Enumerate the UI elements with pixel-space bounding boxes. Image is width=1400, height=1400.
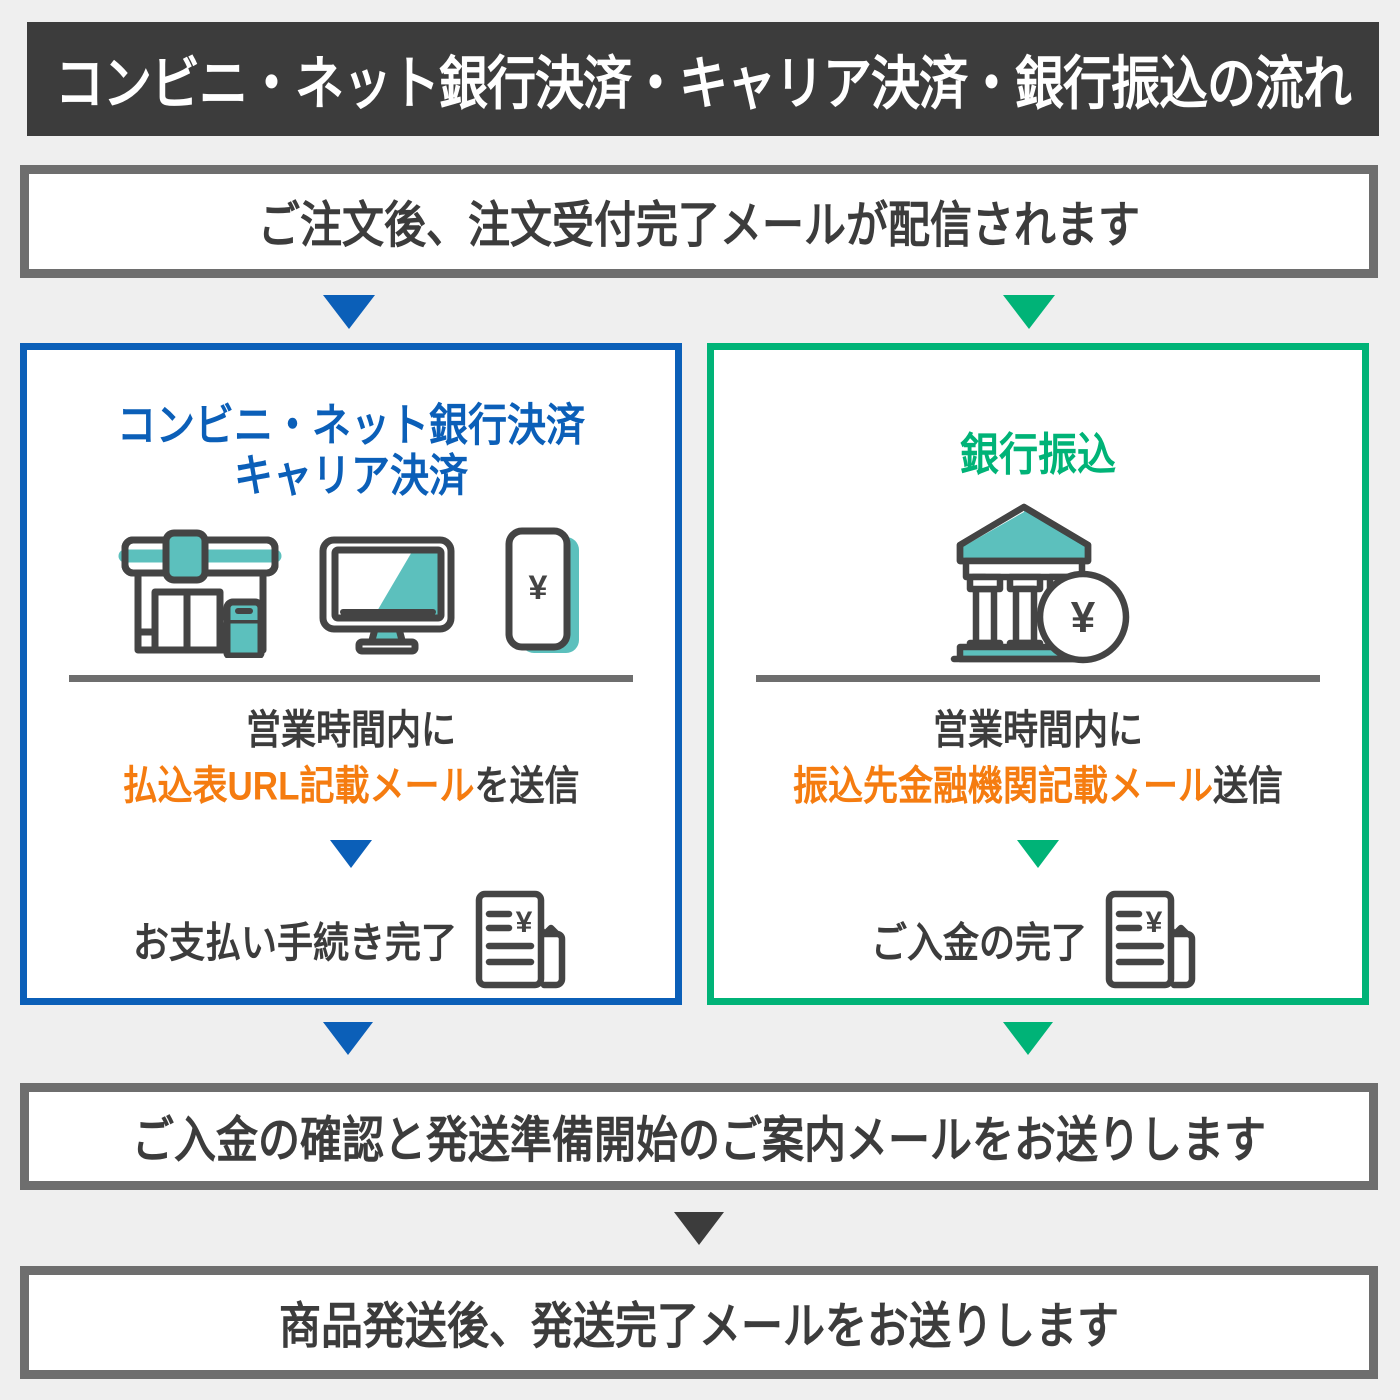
down-arrow-icon-to-bank — [1003, 295, 1055, 329]
panel-bank-divider — [756, 675, 1320, 682]
panel-cvs-send-tail: を送信 — [474, 764, 579, 809]
down-arrow-icon-to-cvs — [323, 295, 375, 329]
convenience-store-icon — [109, 528, 289, 658]
panel-bank-done-text: ご入金の完了 — [871, 910, 1087, 970]
panel-cvs-done-text: お支払い手続き完了 — [133, 910, 457, 970]
panel-cvs-inner-arrow-wrap — [27, 840, 675, 868]
panel-bank-send-highlight: 振込先金融機関記載メール — [793, 764, 1213, 809]
panel-bank-send-block: 営業時間内に 振込先金融機関記載メール送信 — [714, 708, 1362, 809]
panel-bank-send-line2: 振込先金融機関記載メール送信 — [714, 760, 1362, 812]
step-payment-confirm-box: ご入金の確認と発送準備開始のご案内メールをお送りします — [20, 1083, 1378, 1190]
panel-cvs-divider — [69, 675, 633, 682]
svg-text:¥: ¥ — [516, 906, 533, 939]
step-shipped-text: 商品発送後、発送完了メールをお送りします — [279, 1287, 1119, 1359]
panel-bank-title-line1: 銀行振込 — [960, 431, 1116, 480]
panel-cvs-done-row: お支払い手続き完了 ¥ — [27, 888, 675, 992]
down-arrow-icon-bank-out — [1003, 1022, 1053, 1055]
panel-cvs-title-line1: コンビニ・ネット銀行決済 — [117, 401, 585, 450]
panel-bank-transfer: 銀行振込 — [707, 343, 1369, 1005]
panel-bank-send-tail: 送信 — [1213, 764, 1283, 809]
step-shipped-box: 商品発送後、発送完了メールをお送りします — [20, 1266, 1378, 1379]
svg-text:¥: ¥ — [1146, 906, 1163, 939]
receipt-yen-icon: ¥ — [1095, 888, 1215, 992]
panel-cvs-send-line2: 払込表URL記載メールを送信 — [27, 760, 675, 812]
step-payment-confirm-text: ご入金の確認と発送準備開始のご案内メールをお送りします — [132, 1101, 1266, 1173]
step-order-email-box: ご注文後、注文受付完了メールが配信されます — [20, 165, 1378, 278]
panel-cvs-title-line2: キャリア決済 — [234, 452, 468, 501]
panel-cvs-title: コンビニ・ネット銀行決済 キャリア決済 — [27, 401, 675, 501]
panel-bank-icon-row: ¥ — [714, 500, 1362, 665]
down-arrow-icon-bank-inner — [1017, 840, 1059, 868]
down-arrow-icon-cvs-inner — [330, 840, 372, 868]
down-arrow-icon-confirm-out — [674, 1212, 724, 1245]
panel-bank-title: 銀行振込 — [714, 431, 1362, 481]
svg-text:¥: ¥ — [1070, 593, 1095, 642]
panel-convenience-store-payment: コンビニ・ネット銀行決済 キャリア決済 — [20, 343, 682, 1005]
bank-building-yen-icon: ¥ — [946, 499, 1131, 667]
panel-cvs-send-highlight: 払込表URL記載メール — [123, 764, 475, 809]
step-order-email-text: ご注文後、注文受付完了メールが配信されます — [258, 186, 1140, 258]
panel-cvs-send-block: 営業時間内に 払込表URL記載メールを送信 — [27, 708, 675, 809]
payment-flow-diagram: コンビニ・ネット銀行決済・キャリア決済・銀行振込の流れ ご注文後、注文受付完了メ… — [0, 0, 1400, 1400]
receipt-yen-icon: ¥ — [465, 888, 585, 992]
desktop-monitor-icon — [313, 528, 463, 658]
svg-text:¥: ¥ — [529, 569, 548, 607]
smartphone-yen-icon: ¥ — [497, 525, 593, 661]
panel-bank-send-line1: 営業時間内に — [714, 705, 1362, 757]
diagram-title-bar: コンビニ・ネット銀行決済・キャリア決済・銀行振込の流れ — [27, 22, 1379, 136]
panel-bank-inner-arrow-wrap — [714, 840, 1362, 868]
panel-cvs-send-line1: 営業時間内に — [27, 705, 675, 757]
panel-cvs-icon-row: ¥ — [27, 525, 675, 660]
down-arrow-icon-cvs-out — [323, 1022, 373, 1055]
panel-bank-done-row: ご入金の完了 ¥ — [714, 888, 1362, 992]
diagram-title: コンビニ・ネット銀行決済・キャリア決済・銀行振込の流れ — [55, 37, 1351, 121]
